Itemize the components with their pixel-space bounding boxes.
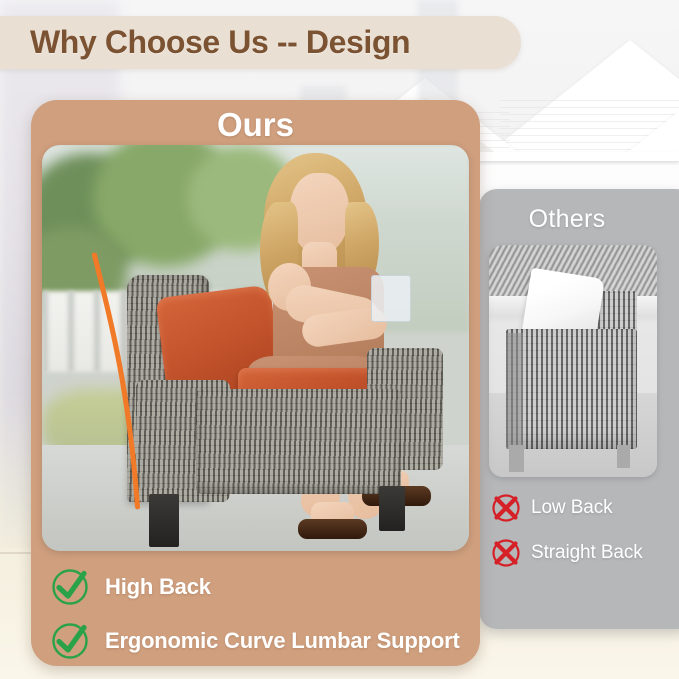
header-banner: Why Choose Us -- Design bbox=[0, 16, 521, 69]
list-item-label: Ergonomic Curve Lumbar Support bbox=[105, 628, 460, 654]
ours-feature-list: High Back Ergonomic Curve Lumbar Support bbox=[49, 560, 468, 668]
ours-panel-title: Ours bbox=[31, 106, 480, 144]
others-feature-list: Low Back Straight Back bbox=[490, 485, 643, 575]
chair-leg bbox=[379, 486, 405, 531]
chair-front-panel bbox=[196, 389, 401, 495]
list-item: Straight Back bbox=[490, 530, 643, 575]
list-item-label: High Back bbox=[105, 574, 211, 600]
others-panel: Others Low Back bbox=[479, 189, 679, 629]
check-circle-icon bbox=[49, 566, 91, 608]
list-item: Low Back bbox=[490, 485, 643, 530]
list-item: High Back bbox=[49, 560, 468, 614]
list-item: Ergonomic Curve Lumbar Support bbox=[49, 614, 468, 668]
chair-leg bbox=[149, 494, 179, 547]
others-panel-title: Others bbox=[479, 205, 655, 234]
infographic-canvas: Why Choose Us -- Design Others Low Back bbox=[0, 0, 679, 679]
x-circle-icon bbox=[490, 492, 522, 524]
x-circle-icon bbox=[490, 537, 522, 569]
model-glass bbox=[371, 275, 411, 322]
page-title: Why Choose Us -- Design bbox=[30, 24, 410, 61]
model-sandal bbox=[298, 519, 366, 539]
ours-product-photo bbox=[42, 145, 469, 551]
list-item-label: Low Back bbox=[531, 497, 613, 519]
check-circle-icon bbox=[49, 620, 91, 662]
others-product-photo bbox=[489, 245, 657, 477]
ours-panel: Ours bbox=[31, 100, 480, 666]
list-item-label: Straight Back bbox=[531, 542, 643, 564]
